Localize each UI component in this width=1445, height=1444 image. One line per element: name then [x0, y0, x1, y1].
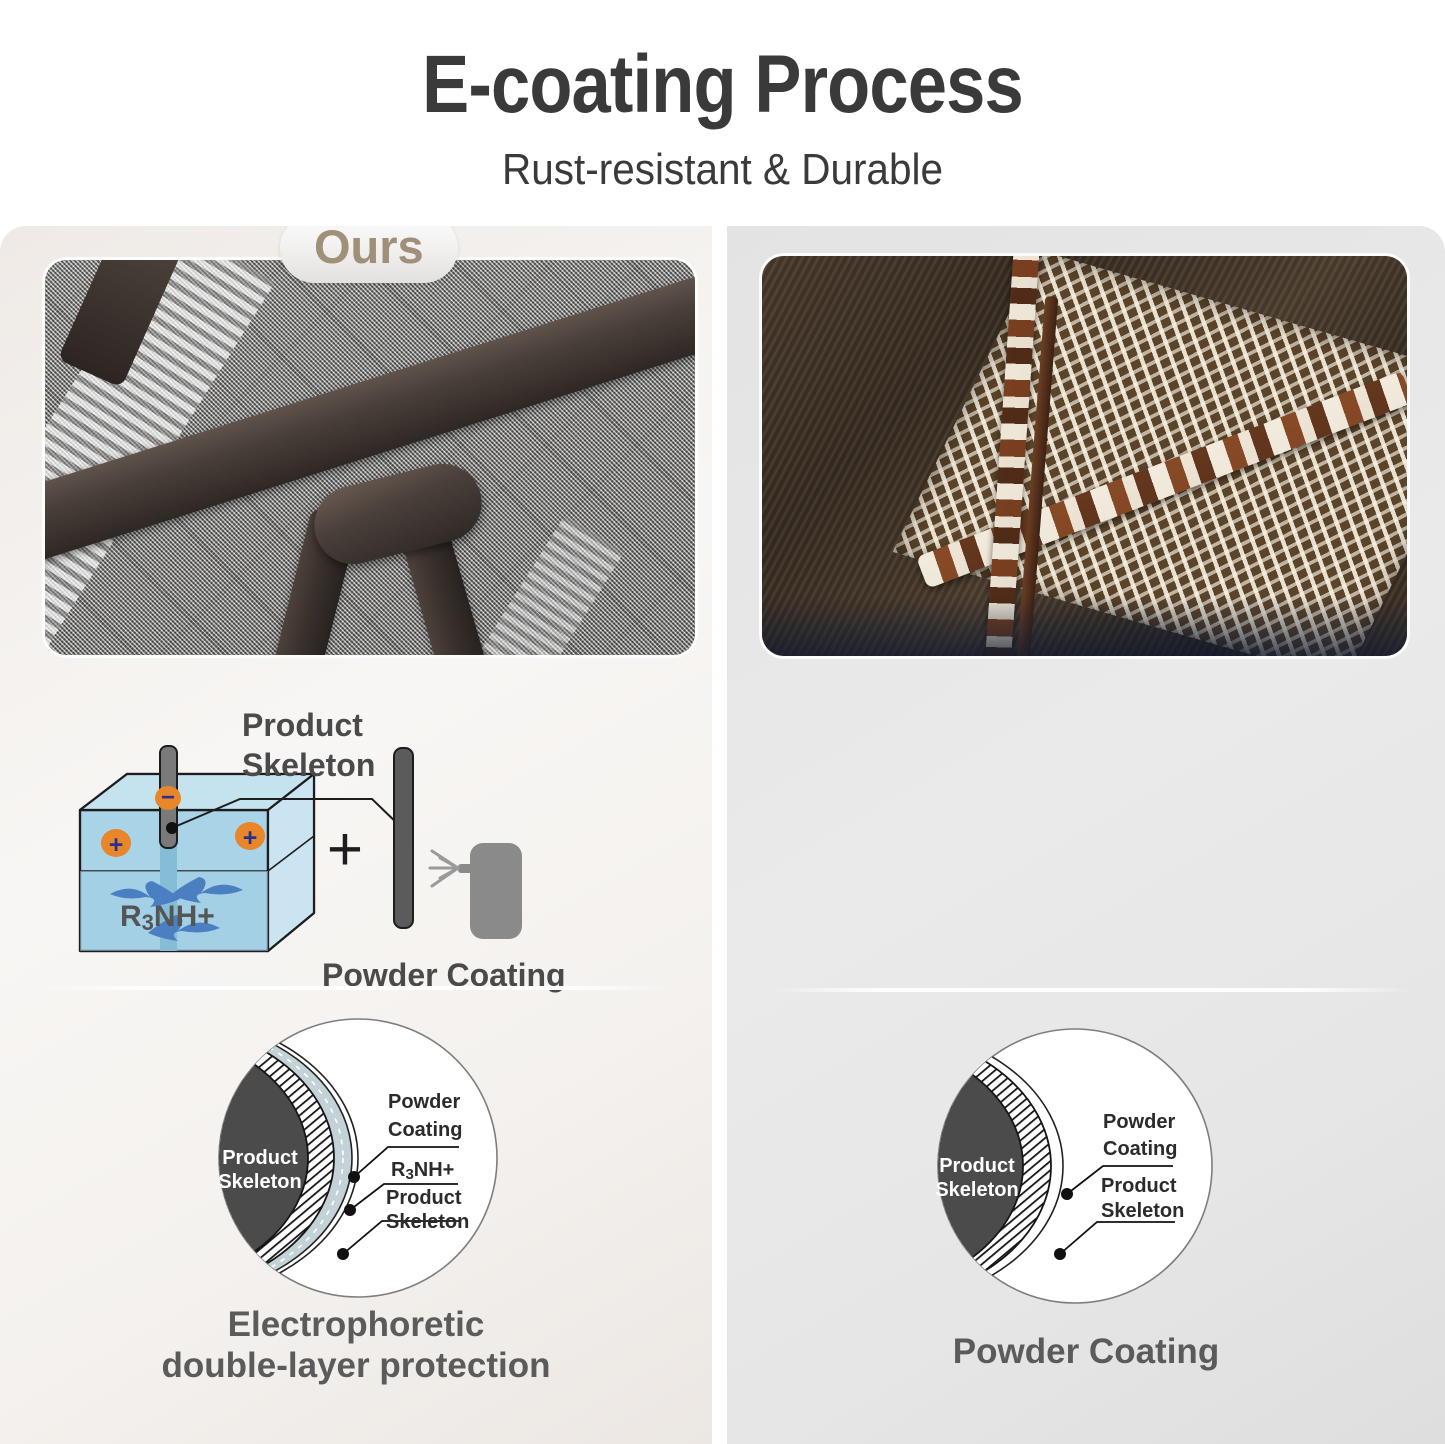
- label-product-skeleton-left-2: Skeleton: [242, 747, 375, 783]
- cross-core-label-others: Product: [939, 1155, 1015, 1177]
- svg-text:Skeleton: Skeleton: [1101, 1200, 1184, 1222]
- cross-core-label-ours-2: Skeleton: [218, 1171, 301, 1193]
- ion-plus-label-1: +: [109, 831, 124, 859]
- photo-bottom-shadow: [762, 596, 1407, 656]
- diagram-ecoating-process: + + R3NH+ − Product Skeleton +: [72, 708, 682, 998]
- page-title: E-coating Process: [101, 44, 1344, 126]
- cross-section-ours: Product Skeleton Powder Coating R3NH+ Pr…: [188, 1016, 528, 1301]
- plus-operator: +: [327, 815, 363, 884]
- spray-gun-left: [430, 843, 522, 939]
- header: E-coating Process Rust-resistant & Durab…: [0, 0, 1445, 222]
- svg-text:R3NH+: R3NH+: [391, 1159, 454, 1183]
- caption-ours-line1: Electrophoretic: [0, 1304, 712, 1345]
- leader-dot-left: [166, 822, 178, 834]
- label-product-skeleton-left: Product: [242, 708, 363, 743]
- page-subtitle: Rust-resistant & Durable: [58, 148, 1387, 192]
- caption-ours: Electrophoretic double-layer protection: [0, 1304, 712, 1387]
- caption-others: Powder Coating: [727, 1331, 1445, 1372]
- photo-others: [762, 256, 1407, 656]
- rod-powder-coated: [394, 748, 413, 928]
- cross-section-others: Product Skeleton Powder Coating Product …: [905, 1026, 1245, 1306]
- ion-minus-label: −: [161, 784, 175, 811]
- svg-text:Powder: Powder: [388, 1091, 460, 1113]
- cross-core-label-others-2: Skeleton: [935, 1179, 1018, 1201]
- svg-text:Product: Product: [386, 1187, 462, 1209]
- ion-plus-label-2: +: [243, 824, 258, 852]
- section-divider-ours: [40, 986, 676, 990]
- svg-text:Coating: Coating: [1103, 1138, 1177, 1160]
- caption-ours-line2: double-layer protection: [0, 1345, 712, 1386]
- svg-text:Powder: Powder: [1103, 1111, 1175, 1133]
- svg-text:Skeleton: Skeleton: [386, 1211, 469, 1233]
- section-divider-others: [769, 988, 1409, 992]
- panel-ours: Ours + + R3NH+: [0, 226, 712, 1444]
- caption-others-line1: Powder Coating: [727, 1331, 1445, 1372]
- panel-others: Others Product Skeleton Powder Coating: [727, 226, 1445, 1444]
- svg-text:Coating: Coating: [388, 1119, 462, 1141]
- tank-solution-label: R3NH+: [120, 900, 215, 935]
- svg-text:Product: Product: [1101, 1175, 1177, 1197]
- photo-ours: [45, 260, 695, 655]
- badge-ours: Ours: [280, 226, 458, 283]
- cross-core-label-ours: Product: [222, 1147, 298, 1169]
